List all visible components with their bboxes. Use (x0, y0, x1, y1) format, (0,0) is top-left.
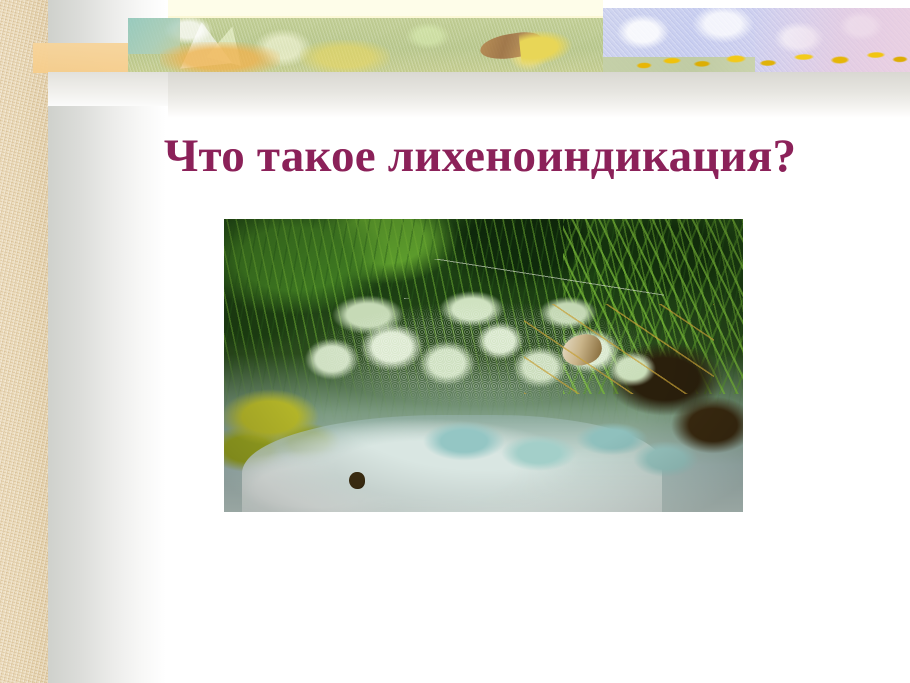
banner-yellow-accent (518, 27, 573, 66)
photo-vignette (224, 219, 743, 512)
top-decorative-banner (0, 0, 910, 120)
banner-lower-gradient-shadow (168, 72, 910, 118)
banner-yellow-glow (300, 40, 390, 74)
slide-title: Что такое лихеноиндикация? (60, 128, 900, 184)
presentation-slide: Что такое лихеноиндикация? (0, 0, 910, 683)
lichen-photograph (224, 219, 743, 512)
banner-lower-left-shadow (48, 72, 168, 106)
banner-orange-glow (160, 42, 280, 76)
banner-pale-yellow-highlight (168, 0, 603, 16)
